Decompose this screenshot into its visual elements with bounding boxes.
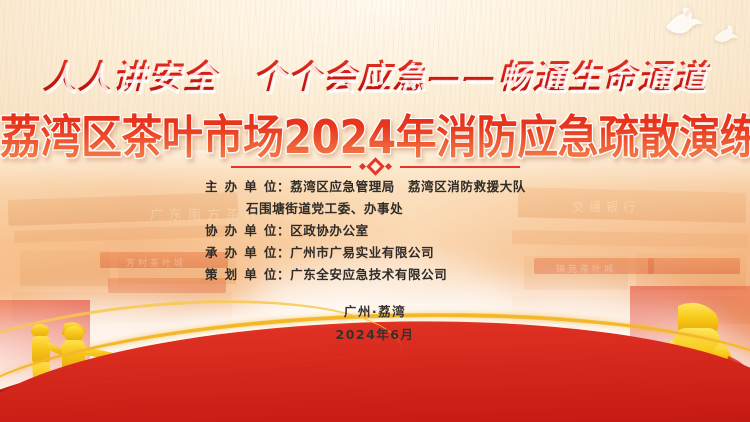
decorative-divider (0, 160, 750, 173)
divider-diamond-icon (366, 157, 384, 175)
divider-line-right (400, 166, 520, 168)
dove-icon-small (712, 25, 738, 43)
organizer-label: 主办单位 (205, 176, 277, 198)
organizer-value: 石围塘街道党工委、办事处 (246, 198, 403, 220)
organizer-label: 协办单位 (205, 220, 277, 242)
date-text: 2024年6月 (0, 323, 750, 346)
fire-drill-poster: 广东南方茶叶市场 交通银行 芳村茶叶城 锦苑茶叶城 (0, 0, 750, 422)
organizer-list: 主办单位 ： 荔湾区应急管理局 荔湾区消防救援大队 石围塘街道党工委、办事处 协… (0, 176, 750, 285)
organizer-value: 广东全安应急技术有限公司 (290, 264, 545, 286)
organizer-row: 主办单位 ： 荔湾区应急管理局 荔湾区消防救援大队 (205, 176, 545, 198)
organizer-colon: ： (277, 220, 290, 242)
place-and-date: 广州·荔湾 2024年6月 (0, 300, 750, 346)
organizer-value: 区政协办公室 (290, 220, 545, 242)
organizer-label: 承办单位 (205, 242, 277, 264)
divider-dot (384, 163, 391, 170)
organizer-value: 广州市广易实业有限公司 (290, 242, 545, 264)
dove-icon (662, 6, 704, 36)
organizer-row: 承办单位 ： 广州市广易实业有限公司 (205, 242, 545, 264)
poster-subtitle: 人人讲安全 个个会应急——畅通生命通道 (0, 50, 750, 98)
organizer-row-continuation: 石围塘街道党工委、办事处 (164, 198, 586, 220)
divider-ornament (360, 160, 391, 173)
divider-line-left (231, 166, 351, 168)
divider-dot (358, 163, 365, 170)
place-text: 广州·荔湾 (0, 300, 750, 323)
organizer-row: 策划单位 ： 广东全安应急技术有限公司 (205, 264, 545, 286)
organizer-label: 策划单位 (205, 264, 277, 286)
organizer-colon: ： (277, 176, 290, 198)
organizer-value: 荔湾区应急管理局 荔湾区消防救援大队 (290, 176, 545, 198)
organizer-colon: ： (277, 242, 290, 264)
organizer-colon: ： (277, 264, 290, 286)
organizer-row: 协办单位 ： 区政协办公室 (205, 220, 545, 242)
